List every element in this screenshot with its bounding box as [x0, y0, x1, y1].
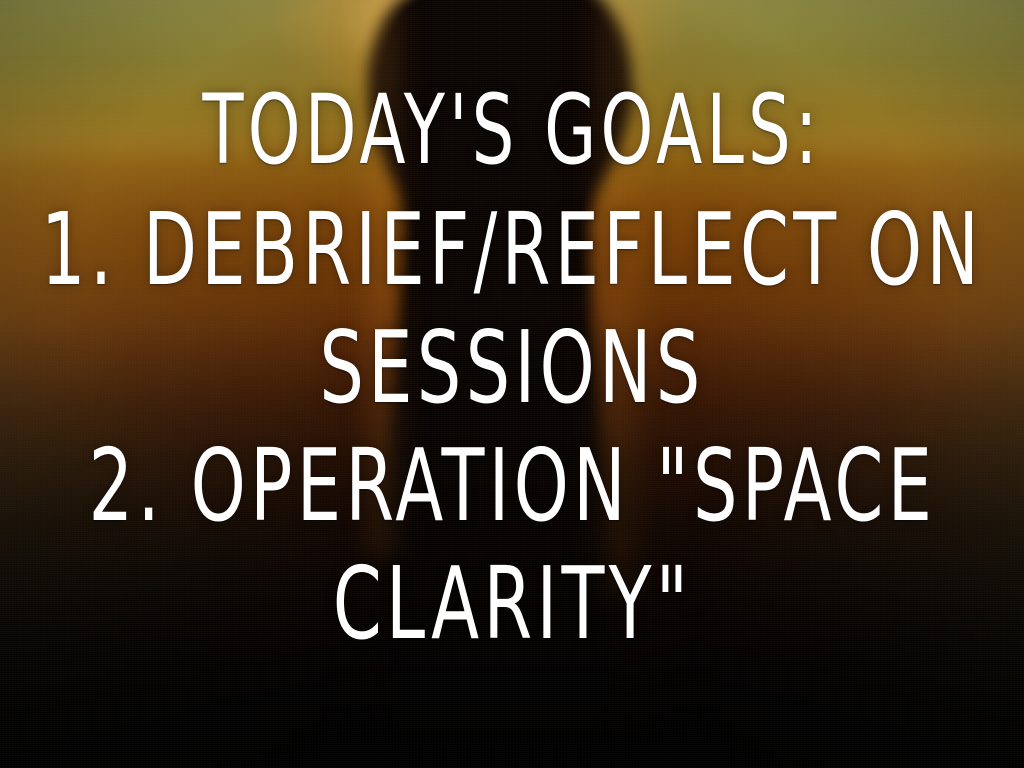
presentation-slide: TODAY'S GOALS: 1. DEBRIEF/REFLECT ON SES…: [0, 0, 1024, 768]
slide-text-block: TODAY'S GOALS: 1. DEBRIEF/REFLECT ON SES…: [0, 0, 1024, 768]
goal-item-2-line-2: CLARITY": [332, 554, 692, 654]
goal-item-1-line-2: SESSIONS: [319, 318, 704, 418]
slide-title: TODAY'S GOALS:: [202, 82, 821, 178]
goal-item-2-line-1: 2. OPERATION "SPACE: [88, 436, 936, 536]
goal-item-1-line-1: 1. DEBRIEF/REFLECT ON: [41, 200, 983, 300]
